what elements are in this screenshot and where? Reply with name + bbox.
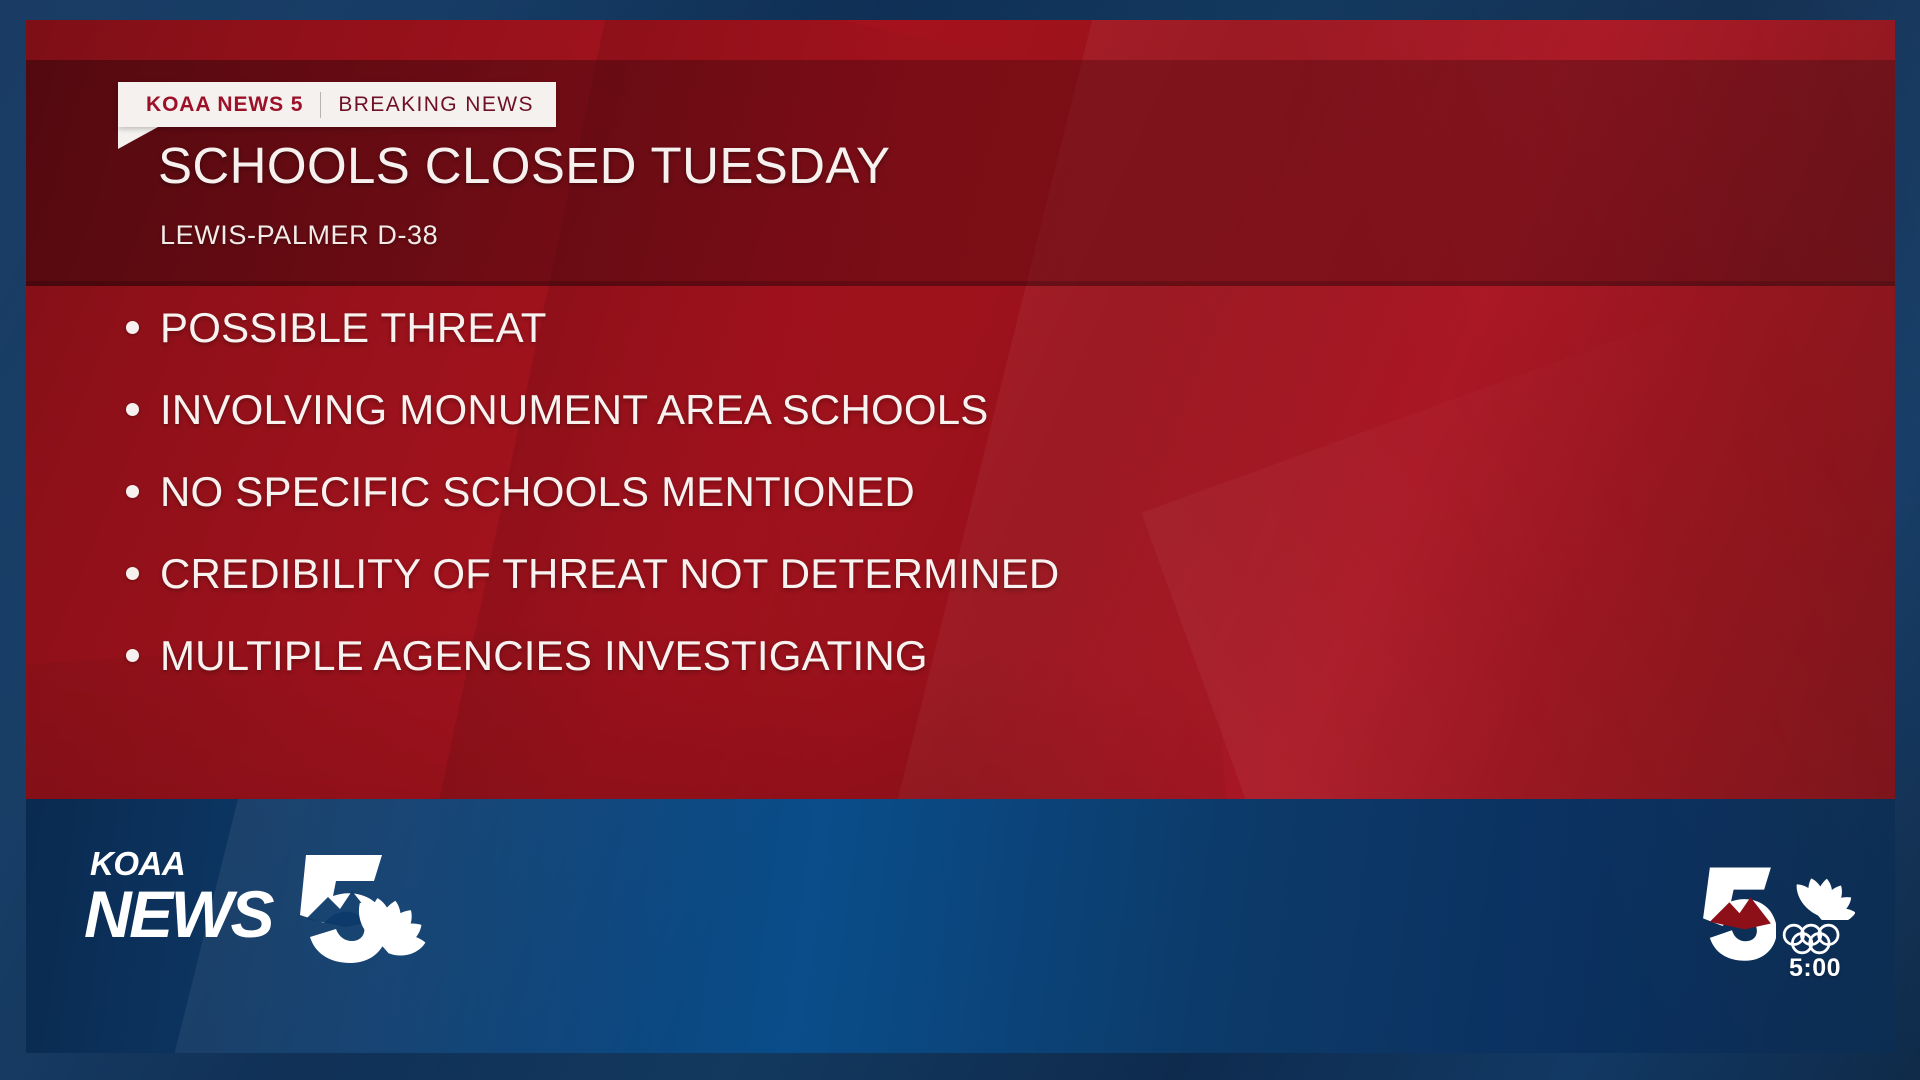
bug-channel-5 <box>1698 862 1776 968</box>
bullet-item: NO SPECIFIC SCHOOLS MENTIONED <box>126 468 1726 550</box>
channel-bug-row: 5:00 <box>1698 862 1856 983</box>
bullet-label: CREDIBILITY OF THREAT NOT DETERMINED <box>160 550 1059 598</box>
koaa-news5-logo: KOAA NEWS <box>84 841 444 971</box>
subhead-text: LEWIS-PALMER D-38 <box>160 220 438 251</box>
breaking-news-banner: KOAA NEWS 5 BREAKING NEWS <box>118 82 556 127</box>
bullet-list: POSSIBLE THREAT INVOLVING MONUMENT AREA … <box>126 304 1726 714</box>
bullet-label: NO SPECIFIC SCHOOLS MENTIONED <box>160 468 915 516</box>
bullet-item: POSSIBLE THREAT <box>126 304 1726 386</box>
bullet-item: INVOLVING MONUMENT AREA SCHOOLS <box>126 386 1726 468</box>
bullet-label: POSSIBLE THREAT <box>160 304 547 352</box>
bullet-dot-icon <box>126 649 139 662</box>
red-content-panel: KOAA NEWS 5 BREAKING NEWS SCHOOLS CLOSED… <box>26 20 1895 799</box>
banner-kicker-label: BREAKING NEWS <box>338 93 534 117</box>
nbc-peacock-icon <box>1781 868 1855 920</box>
banner-divider <box>320 92 321 118</box>
bullet-dot-icon <box>126 403 139 416</box>
olympic-rings-icon <box>1780 922 1856 956</box>
bug-time-label: 5:00 <box>1789 954 1841 983</box>
bullet-label: INVOLVING MONUMENT AREA SCHOOLS <box>160 386 988 434</box>
bullet-dot-icon <box>126 567 139 580</box>
broadcast-graphic-stage: KOAA NEWS 5 BREAKING NEWS SCHOOLS CLOSED… <box>0 0 1920 1080</box>
headline-text: SCHOOLS CLOSED TUESDAY <box>158 138 890 193</box>
banner-brand-label: KOAA NEWS 5 <box>146 93 303 117</box>
bullet-item: CREDIBILITY OF THREAT NOT DETERMINED <box>126 550 1726 632</box>
bullet-dot-icon <box>126 485 139 498</box>
bullet-item: MULTIPLE AGENCIES INVESTIGATING <box>126 632 1726 714</box>
bottom-blue-bar: KOAA NEWS <box>26 799 1895 1053</box>
logo-wordmark-text: NEWS <box>84 877 274 951</box>
channel-bug: 5:00 <box>1688 862 1856 983</box>
bullet-label: MULTIPLE AGENCIES INVESTIGATING <box>160 632 928 680</box>
bullet-dot-icon <box>126 321 139 334</box>
